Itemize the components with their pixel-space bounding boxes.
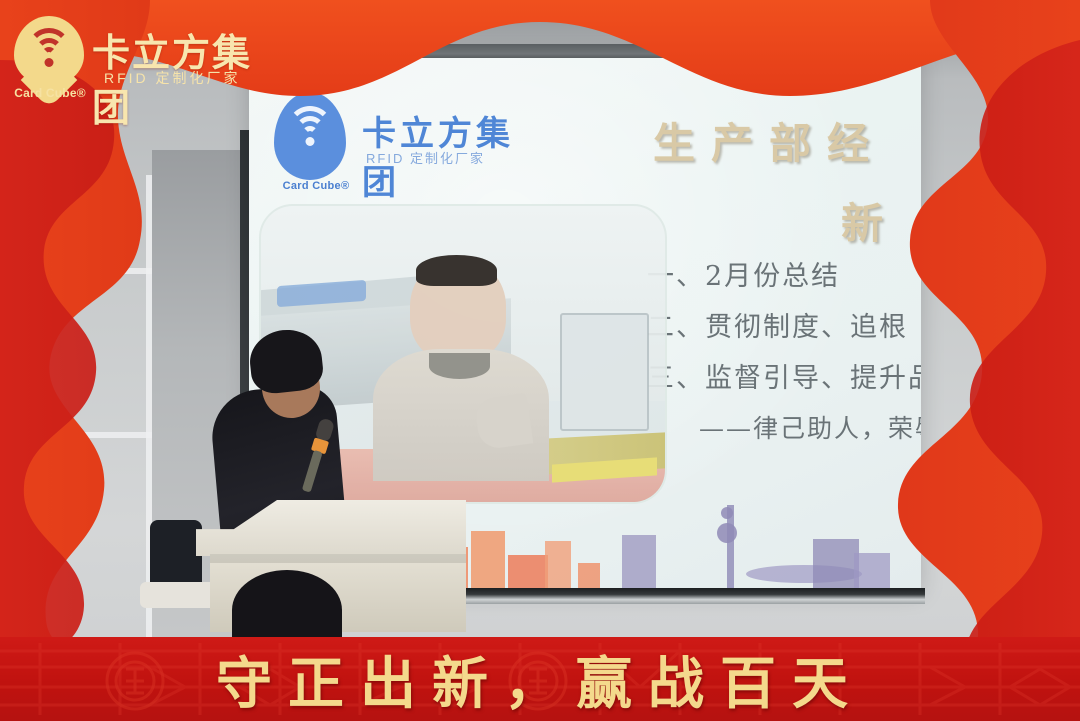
office-worker bbox=[394, 259, 527, 472]
brand-logo-header: Card Cube® 卡立方集团 RFID 定制化厂家 bbox=[0, 0, 270, 108]
slide-motto: ——律己助人，荣辱 bbox=[699, 416, 921, 441]
brand-tagline: RFID 定制化厂家 bbox=[104, 68, 241, 88]
window-mullion bbox=[36, 432, 154, 438]
slide-title-line1: 生产部经 bbox=[653, 110, 885, 171]
slide-bullet-list: 一、2月份总结 二、贯彻制度、追根 三、监督引导、提升品质 ——律己助人，荣辱 bbox=[647, 263, 921, 465]
slide-title-line2: 新 bbox=[841, 190, 897, 251]
slide-bullet: 一、2月份总结 bbox=[647, 263, 921, 290]
chair-back bbox=[150, 520, 202, 590]
slide-logo-wordmark: Card Cube® bbox=[270, 180, 362, 192]
window-mullion bbox=[36, 190, 42, 630]
slide-bullet: 二、贯彻制度、追根 bbox=[647, 314, 921, 341]
wifi-icon bbox=[284, 106, 336, 150]
screenshot-root: Card Cube® 卡立方集团 RFID 定制化厂家 生产部经 新 一、2月份… bbox=[0, 0, 1080, 721]
slide-brand-logo: Card Cube® 卡立方集团 RFID 定制化厂家 bbox=[274, 92, 524, 184]
brand-wordmark: Card Cube® bbox=[4, 86, 96, 100]
slide-logo-tagline: RFID 定制化厂家 bbox=[366, 148, 485, 167]
window-mullion bbox=[36, 268, 154, 274]
bottom-slogan-banner: 守正出新，赢战百天 bbox=[0, 637, 1080, 721]
monitor-icon bbox=[560, 313, 649, 431]
wifi-icon bbox=[25, 28, 73, 70]
wifi-pin-icon bbox=[274, 92, 346, 180]
slide-bullet: 三、监督引导、提升品质 bbox=[647, 365, 921, 392]
slogan-text: 守正出新，赢战百天 bbox=[0, 637, 1080, 721]
